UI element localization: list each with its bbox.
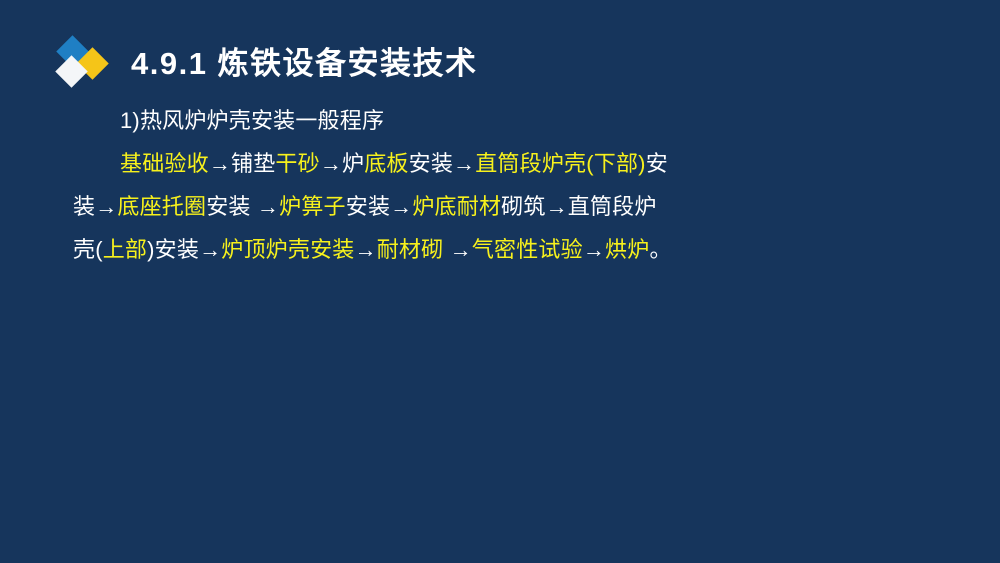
slide-title-row: 4.9.1 炼铁设备安装技术: [55, 38, 478, 90]
text-run: 砌筑→直筒段炉: [501, 194, 656, 219]
text-run: 壳(: [73, 237, 103, 262]
diamond-cluster-icon: [55, 38, 113, 90]
text-run: 直筒段炉壳(下部): [475, 151, 645, 176]
flow-line-3: 壳(上部)安装→炉顶炉壳安装→耐材砌 →气密性试验→烘炉。: [73, 228, 713, 271]
text-run: 炉顶炉壳安装: [221, 237, 354, 262]
slide-canvas: 4.9.1 炼铁设备安装技术 1)热风炉炉壳安装一般程序 基础验收→铺垫干砂→炉…: [0, 0, 1000, 563]
page-title: 4.9.1 炼铁设备安装技术: [131, 47, 478, 81]
text-run: 安装→: [409, 151, 476, 176]
text-run: 耐材砌: [377, 237, 444, 262]
text-run: 上部: [103, 237, 147, 262]
text-run: 安: [646, 151, 668, 176]
text-run: 底板: [364, 151, 408, 176]
text-run: →铺垫: [209, 151, 276, 176]
text-run: 装→: [73, 194, 117, 219]
text-run: 底座托圈: [117, 194, 206, 219]
text-run: 烘炉: [605, 237, 649, 262]
text-run: )安装→: [147, 237, 221, 262]
text-run: 炉底耐材: [412, 194, 501, 219]
text-run: 安装 →: [206, 194, 279, 219]
text-run: 气密性试验: [472, 237, 583, 262]
slide-body: 1)热风炉炉壳安装一般程序 基础验收→铺垫干砂→炉底板安装→直筒段炉壳(下部)安…: [73, 99, 713, 271]
body-heading: 1)热风炉炉壳安装一般程序: [73, 99, 713, 142]
text-run: →炉: [320, 151, 364, 176]
text-run: 基础验收: [120, 151, 209, 176]
text-run: →: [583, 237, 605, 262]
text-run: 安装→: [346, 194, 413, 219]
flow-line-2: 装→底座托圈安装 →炉箅子安装→炉底耐材砌筑→直筒段炉: [73, 185, 713, 228]
text-run: →: [354, 237, 376, 262]
text-run: 干砂: [275, 151, 319, 176]
text-run: →: [443, 237, 472, 262]
text-run: 。: [649, 237, 671, 262]
text-run: 炉箅子: [279, 194, 346, 219]
flow-line-1: 基础验收→铺垫干砂→炉底板安装→直筒段炉壳(下部)安: [73, 142, 713, 185]
